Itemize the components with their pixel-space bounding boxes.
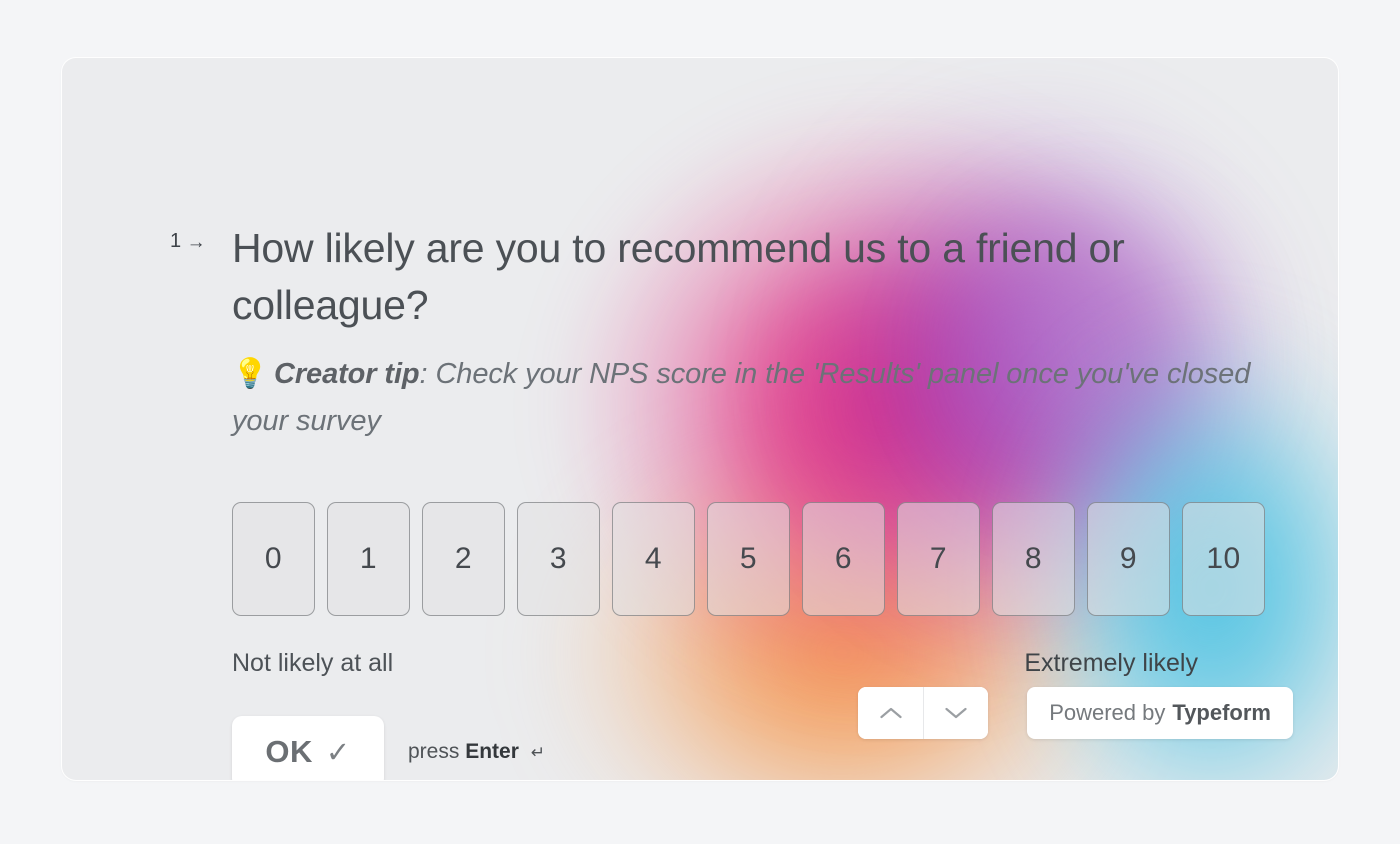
- ok-button[interactable]: OK ✓: [232, 716, 384, 780]
- creator-tip-label: Creator tip: [274, 358, 420, 390]
- scale-high-label: Extremely likely: [1024, 649, 1198, 678]
- nps-rating-scale: 0 1 2 3 4 5 6 7 8 9 10: [232, 502, 1265, 616]
- rating-option-2[interactable]: 2: [422, 502, 505, 616]
- nav-previous-button[interactable]: [858, 687, 923, 739]
- nav-next-button[interactable]: [923, 687, 988, 739]
- powered-by-typeform-badge[interactable]: Powered by Typeform: [1027, 687, 1293, 739]
- lightbulb-icon: 💡: [232, 358, 268, 390]
- press-enter-hint: press Enter ↵: [408, 740, 545, 764]
- chevron-down-icon: [945, 707, 967, 719]
- checkmark-icon: ✓: [326, 735, 351, 770]
- arrow-right-icon: →: [187, 233, 207, 252]
- powered-by-prefix: Powered by: [1049, 700, 1165, 726]
- ok-button-label: OK: [265, 734, 313, 770]
- question-title: How likely are you to recommend us to a …: [232, 220, 1262, 333]
- press-enter-key: Enter: [465, 740, 519, 763]
- rating-option-3[interactable]: 3: [517, 502, 600, 616]
- rating-option-0[interactable]: 0: [232, 502, 315, 616]
- rating-option-9[interactable]: 9: [1087, 502, 1170, 616]
- navigation-controls: [858, 687, 988, 739]
- typeform-brand-label: Typeform: [1172, 700, 1271, 726]
- card-content: 1 → How likely are you to recommend us t…: [62, 58, 1338, 780]
- rating-option-5[interactable]: 5: [707, 502, 790, 616]
- rating-option-8[interactable]: 8: [992, 502, 1075, 616]
- question-number: 1 →: [170, 230, 206, 253]
- rating-option-4[interactable]: 4: [612, 502, 695, 616]
- return-arrow-icon: ↵: [531, 743, 545, 762]
- press-enter-prefix: press: [408, 740, 459, 763]
- page-root: 1 → How likely are you to recommend us t…: [0, 0, 1400, 844]
- chevron-up-icon: [880, 707, 902, 719]
- creator-tip: 💡Creator tip: Check your NPS score in th…: [232, 351, 1272, 445]
- rating-option-1[interactable]: 1: [327, 502, 410, 616]
- rating-option-6[interactable]: 6: [802, 502, 885, 616]
- rating-option-10[interactable]: 10: [1182, 502, 1265, 616]
- question-number-value: 1: [170, 230, 182, 253]
- scale-low-label: Not likely at all: [232, 649, 393, 678]
- submit-row: OK ✓ press Enter ↵: [232, 716, 545, 780]
- rating-option-7[interactable]: 7: [897, 502, 980, 616]
- typeform-question-card: 1 → How likely are you to recommend us t…: [62, 58, 1338, 780]
